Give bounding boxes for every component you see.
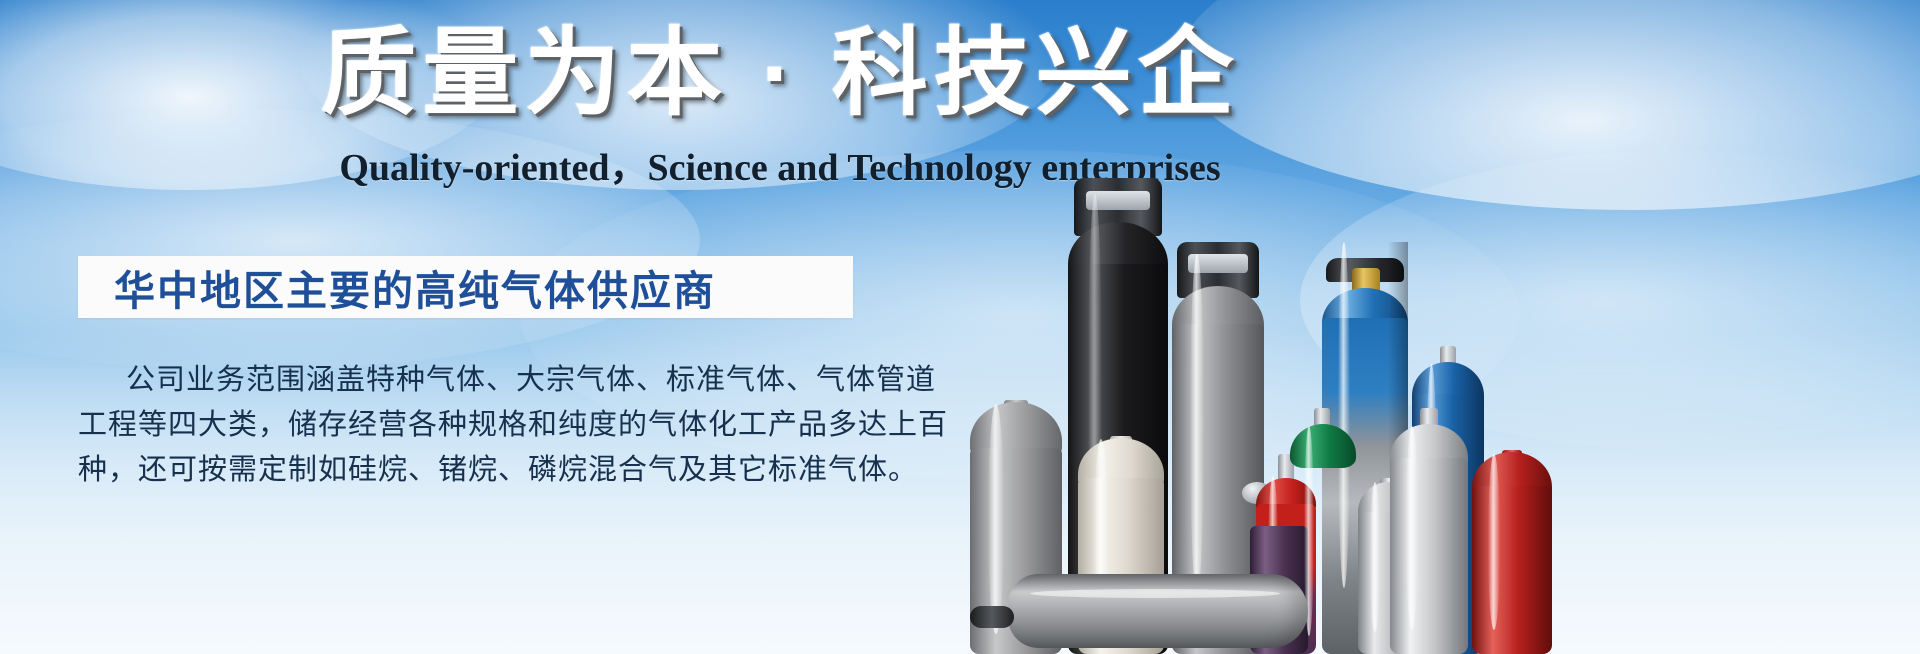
promo-banner: 质量为本 · 科技兴企 Quality-oriented，Science and… (0, 0, 1920, 654)
cylinder-body (1390, 458, 1468, 654)
gas-cylinder-group (960, 0, 1920, 654)
description-line-3: 种，还可按需定制如硅烷、锗烷、磷烷混合气及其它标准气体。 (78, 448, 868, 493)
description-line-2: 工程等四大类，储存经营各种规格和纯度的气体化工产品多达上百 (78, 403, 868, 448)
cylinder-horizontal-valve (970, 606, 1014, 628)
cylinder-body (1472, 486, 1552, 654)
banner-description: 公司业务范围涵盖特种气体、大宗气体、标准气体、气体管道 工程等四大类，储存经营各… (78, 358, 868, 493)
slogan-text: 华中地区主要的高纯气体供应商 (78, 257, 716, 317)
cylinder-gray-horizontal (1008, 574, 1308, 648)
cylinder-horizontal-highlight (1030, 589, 1280, 598)
cylinder-aluminum-medium (1390, 426, 1468, 654)
cylinder-red-medium (1472, 454, 1552, 654)
slogan-box: 华中地区主要的高纯气体供应商 (78, 256, 853, 318)
description-line-1: 公司业务范围涵盖特种气体、大宗气体、标准气体、气体管道 (78, 358, 868, 403)
